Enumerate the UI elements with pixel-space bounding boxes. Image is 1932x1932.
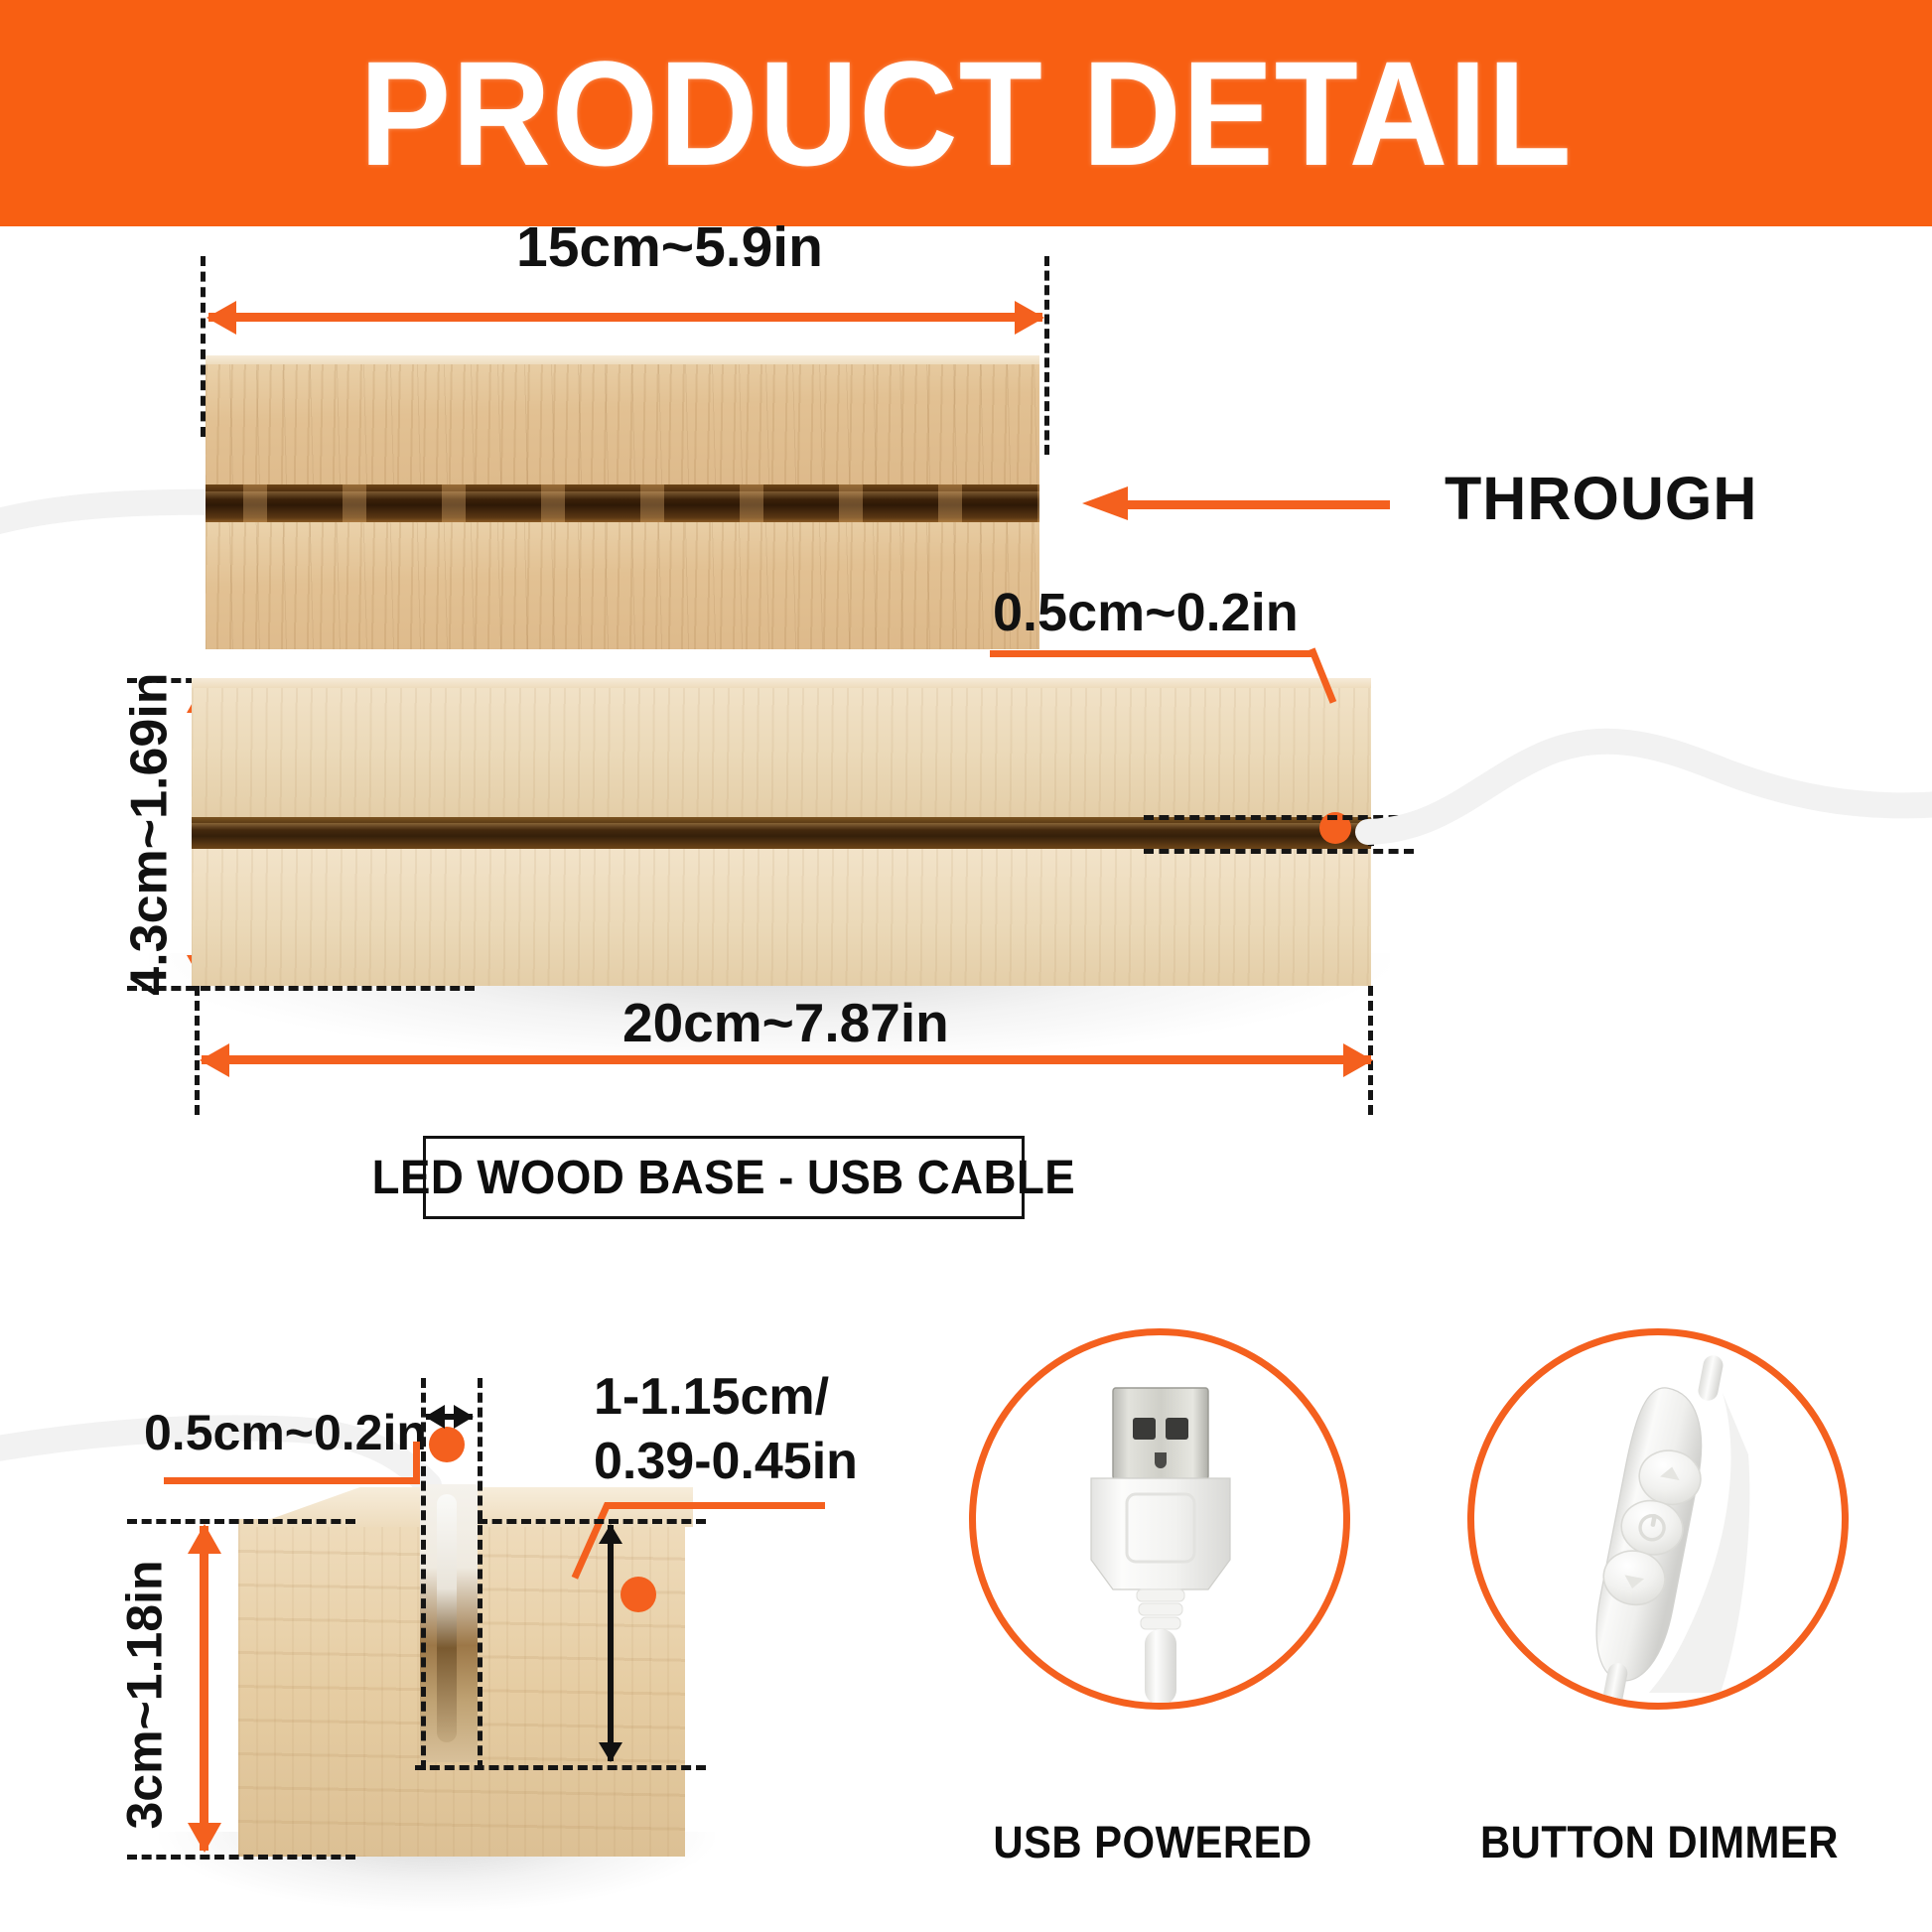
closeup-slot-width-leader <box>164 1477 420 1484</box>
closeup-depth-guide-bottom <box>415 1765 706 1770</box>
closeup-depth-guide-top <box>478 1519 706 1524</box>
led-sheen <box>206 491 1039 499</box>
wood-block-middle-chamfer <box>192 678 1371 688</box>
closeup-depth-leader-dot <box>621 1577 656 1612</box>
dimension-label-height-left: 4.3cm~1.69in <box>122 672 178 995</box>
led-strip-channel <box>206 484 1039 522</box>
usb-connector-icon <box>976 1335 1343 1703</box>
feature-panel-usb <box>969 1328 1350 1710</box>
dimension-label-groove: 0.5cm~0.2in <box>993 584 1299 641</box>
guide-line-top-right <box>1044 256 1049 455</box>
dimension-label-width-top: 15cm~5.9in <box>516 217 823 279</box>
closeup-slot-width-leader-up <box>413 1442 420 1481</box>
through-label: THROUGH <box>1445 467 1757 532</box>
wood-block-top-lower <box>206 522 1039 649</box>
page-title: PRODUCT DETAIL <box>359 39 1573 188</box>
through-callout-arrow <box>1082 496 1390 510</box>
wood-block-top-upper <box>206 355 1039 484</box>
inline-dimmer-switch-icon <box>1474 1335 1842 1703</box>
groove-leader-horizontal <box>990 650 1312 657</box>
closeup-slot-guide-right <box>478 1378 483 1770</box>
dimension-label-width-bottom: 20cm~7.87in <box>622 994 949 1052</box>
header-banner: PRODUCT DETAIL <box>0 0 1932 226</box>
wood-block-middle <box>192 678 1371 817</box>
closeup-height-guide-bottom <box>127 1855 355 1860</box>
usb-cable-right <box>1360 556 1932 884</box>
feature-caption-dimmer: BUTTON DIMMER <box>1480 1817 1822 1868</box>
main-diagram-caption-label: LED WOOD BASE - USB CABLE <box>372 1151 1076 1205</box>
feature-panel-dimmer <box>1467 1328 1849 1710</box>
closeup-label-block-height: 3cm~1.18in <box>118 1560 172 1829</box>
closeup-slot-wire <box>437 1494 457 1742</box>
guide-line-height-bottom <box>127 986 475 991</box>
dimension-arrow-width-top <box>208 313 1042 322</box>
main-diagram-caption-box: LED WOOD BASE - USB CABLE <box>423 1136 1025 1219</box>
feature-caption-usb: USB POWERED <box>982 1817 1323 1868</box>
groove-channel <box>192 817 1371 849</box>
closeup-slot-width-arrow <box>426 1414 473 1420</box>
dimension-arrow-width-bottom <box>202 1055 1371 1064</box>
wood-block-bottom <box>192 849 1371 986</box>
closeup-height-arrow <box>200 1526 208 1851</box>
closeup-slot-width-dot <box>429 1427 465 1462</box>
closeup-height-guide-top <box>127 1519 355 1524</box>
closeup-label-slot-depth-line2: 0.39-0.45in <box>594 1434 858 1489</box>
wood-block-top-chamfer <box>206 355 1039 364</box>
led-diodes <box>206 484 1039 522</box>
closeup-label-slot-depth-line1: 1-1.15cm/ <box>594 1369 829 1425</box>
groove-sheen <box>192 823 1371 830</box>
closeup-depth-leader-horizontal <box>605 1502 825 1509</box>
closeup-slot-guide-left <box>421 1378 426 1770</box>
closeup-depth-arrow <box>608 1525 614 1761</box>
closeup-label-slot-width: 0.5cm~0.2in <box>144 1406 427 1459</box>
